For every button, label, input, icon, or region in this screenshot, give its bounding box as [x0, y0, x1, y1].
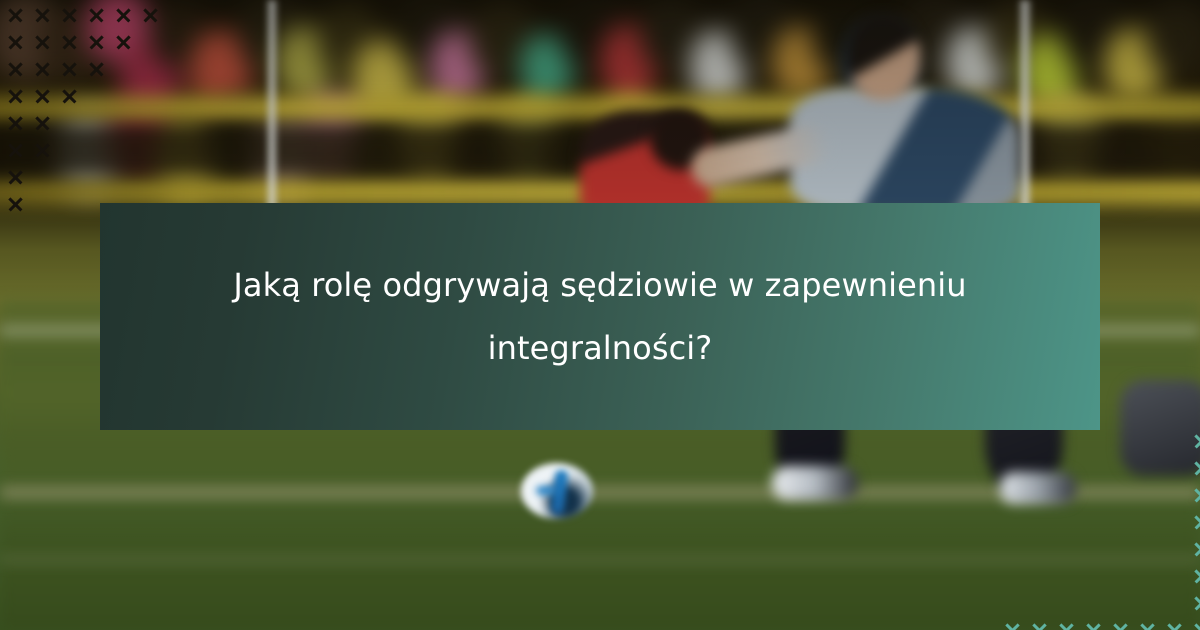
decoration-x-row [2, 2, 191, 29]
x-mark-spacer [1053, 536, 1080, 563]
x-mark-icon [83, 2, 110, 29]
x-mark-spacer [164, 110, 191, 137]
x-mark-spacer [1080, 563, 1107, 590]
x-mark-spacer [1053, 455, 1080, 482]
x-mark-icon [2, 56, 29, 83]
decoration-x-row [2, 83, 191, 110]
x-mark-spacer [1134, 563, 1161, 590]
x-mark-icon [2, 137, 29, 164]
x-mark-spacer [1161, 563, 1188, 590]
x-mark-spacer [1161, 428, 1188, 455]
x-mark-spacer [137, 83, 164, 110]
x-mark-spacer [1053, 563, 1080, 590]
x-mark-spacer [1080, 509, 1107, 536]
x-mark-spacer [999, 590, 1026, 617]
decoration-x-pattern-top-left [2, 2, 191, 218]
x-mark-icon [83, 29, 110, 56]
x-mark-spacer [56, 110, 83, 137]
x-mark-icon [110, 2, 137, 29]
x-mark-spacer [1161, 590, 1188, 617]
x-mark-spacer [1026, 482, 1053, 509]
x-mark-spacer [164, 137, 191, 164]
x-mark-spacer [1107, 428, 1134, 455]
x-mark-icon [56, 2, 83, 29]
x-mark-spacer [1053, 509, 1080, 536]
x-mark-spacer [137, 110, 164, 137]
x-mark-spacer [1080, 536, 1107, 563]
x-mark-spacer [1134, 590, 1161, 617]
x-mark-spacer [1134, 428, 1161, 455]
x-mark-spacer [29, 191, 56, 218]
x-mark-spacer [137, 164, 164, 191]
x-mark-icon [1134, 617, 1161, 630]
x-mark-icon [1107, 617, 1134, 630]
goal-post-left [266, 0, 278, 212]
x-mark-icon [1188, 563, 1200, 590]
x-mark-icon [29, 83, 56, 110]
x-mark-spacer [1107, 482, 1134, 509]
x-mark-icon [2, 110, 29, 137]
decoration-x-row [2, 110, 191, 137]
x-mark-spacer [1053, 590, 1080, 617]
x-mark-icon [2, 29, 29, 56]
x-mark-spacer [110, 110, 137, 137]
x-mark-spacer [1107, 590, 1134, 617]
x-mark-spacer [1026, 590, 1053, 617]
x-mark-spacer [999, 482, 1026, 509]
x-mark-spacer [164, 56, 191, 83]
x-mark-icon [1188, 509, 1200, 536]
social-share-card: Jaką rolę odgrywają sędziowie w zapewnie… [0, 0, 1200, 630]
x-mark-spacer [1026, 455, 1053, 482]
decoration-x-row [2, 29, 191, 56]
x-mark-icon [2, 83, 29, 110]
x-mark-icon [999, 617, 1026, 630]
x-mark-spacer [1026, 536, 1053, 563]
x-mark-spacer [164, 83, 191, 110]
decoration-x-row [999, 455, 1200, 482]
x-mark-spacer [1053, 482, 1080, 509]
x-mark-icon [137, 2, 164, 29]
decoration-x-row [999, 617, 1200, 630]
x-mark-spacer [1161, 509, 1188, 536]
x-mark-icon [29, 137, 56, 164]
player-white-head [846, 14, 920, 100]
x-mark-spacer [164, 2, 191, 29]
x-mark-icon [29, 2, 56, 29]
x-mark-spacer [137, 137, 164, 164]
x-mark-spacer [83, 164, 110, 191]
decoration-x-pattern-bottom-right [999, 428, 1200, 630]
page-title: Jaką rolę odgrywają sędziowie w zapewnie… [205, 254, 995, 379]
x-mark-icon [2, 164, 29, 191]
decoration-x-row [2, 137, 191, 164]
x-mark-icon [29, 29, 56, 56]
x-mark-icon [1188, 482, 1200, 509]
title-overlay-panel: Jaką rolę odgrywają sędziowie w zapewnie… [100, 203, 1100, 430]
x-mark-spacer [1134, 509, 1161, 536]
x-mark-spacer [137, 29, 164, 56]
x-mark-spacer [1026, 509, 1053, 536]
x-mark-spacer [1134, 536, 1161, 563]
x-mark-spacer [1161, 455, 1188, 482]
x-mark-icon [2, 191, 29, 218]
player-boot-right [772, 466, 858, 500]
x-mark-spacer [1026, 563, 1053, 590]
x-mark-spacer [110, 137, 137, 164]
x-mark-spacer [999, 509, 1026, 536]
x-mark-icon [56, 56, 83, 83]
x-mark-spacer [83, 83, 110, 110]
decoration-x-row [999, 536, 1200, 563]
x-mark-spacer [1134, 482, 1161, 509]
x-mark-spacer [1080, 590, 1107, 617]
x-mark-icon [1188, 536, 1200, 563]
x-mark-icon [83, 56, 110, 83]
x-mark-spacer [83, 137, 110, 164]
x-mark-icon [1053, 617, 1080, 630]
x-mark-spacer [1161, 482, 1188, 509]
x-mark-icon [1161, 617, 1188, 630]
x-mark-icon [1188, 455, 1200, 482]
x-mark-spacer [1107, 455, 1134, 482]
x-mark-spacer [999, 563, 1026, 590]
x-mark-spacer [1053, 428, 1080, 455]
x-mark-spacer [1107, 509, 1134, 536]
decoration-x-row [999, 428, 1200, 455]
x-mark-spacer [29, 164, 56, 191]
x-mark-icon [29, 56, 56, 83]
soccer-ball-accent [536, 486, 556, 495]
x-mark-spacer [110, 83, 137, 110]
x-mark-spacer [56, 164, 83, 191]
x-mark-spacer [1107, 536, 1134, 563]
decoration-x-row [2, 164, 191, 191]
x-mark-spacer [1026, 428, 1053, 455]
x-mark-icon [1188, 617, 1200, 630]
x-mark-spacer [164, 29, 191, 56]
x-mark-spacer [1134, 455, 1161, 482]
x-mark-spacer [164, 164, 191, 191]
x-mark-spacer [1080, 482, 1107, 509]
x-mark-spacer [999, 428, 1026, 455]
x-mark-spacer [999, 455, 1026, 482]
x-mark-spacer [56, 191, 83, 218]
x-mark-icon [1080, 617, 1107, 630]
x-mark-spacer [137, 56, 164, 83]
decoration-x-row [999, 509, 1200, 536]
x-mark-icon [1188, 428, 1200, 455]
x-mark-icon [56, 29, 83, 56]
x-mark-icon [2, 2, 29, 29]
x-mark-spacer [110, 56, 137, 83]
goal-post-right [1018, 0, 1032, 216]
decoration-x-row [2, 56, 191, 83]
decoration-x-row [999, 482, 1200, 509]
x-mark-icon [1188, 590, 1200, 617]
x-mark-spacer [56, 137, 83, 164]
x-mark-spacer [83, 110, 110, 137]
x-mark-icon [56, 83, 83, 110]
x-mark-spacer [1161, 536, 1188, 563]
x-mark-spacer [1080, 428, 1107, 455]
x-mark-spacer [1107, 563, 1134, 590]
decoration-x-row [999, 590, 1200, 617]
decoration-x-row [999, 563, 1200, 590]
x-mark-spacer [110, 164, 137, 191]
x-mark-icon [1026, 617, 1053, 630]
x-mark-spacer [1080, 455, 1107, 482]
x-mark-icon [110, 29, 137, 56]
x-mark-spacer [999, 536, 1026, 563]
x-mark-icon [29, 110, 56, 137]
